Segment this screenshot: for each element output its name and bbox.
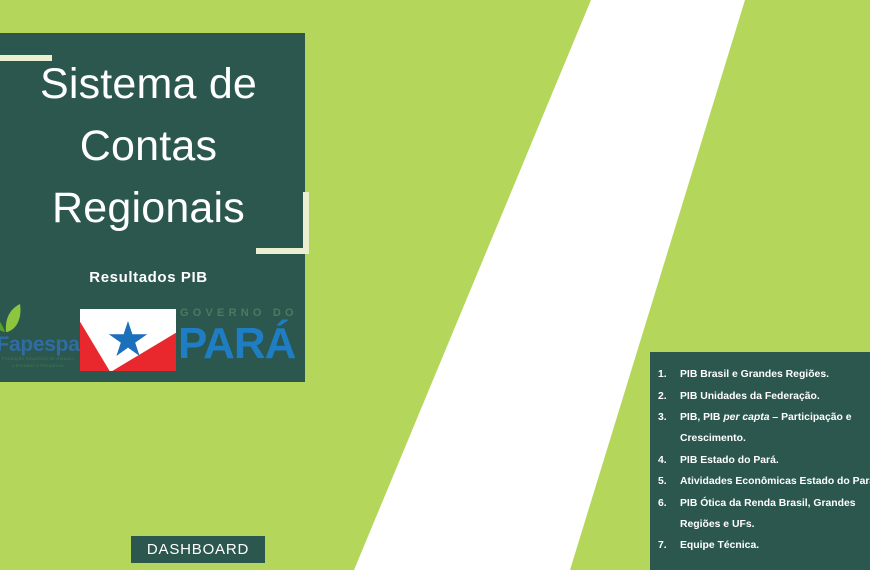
agenda-item[interactable]: 5.Atividades Econômicas Estado do Pará. bbox=[680, 473, 870, 491]
agenda-item-number: 5. bbox=[658, 473, 674, 491]
agenda-item[interactable]: 7.Equipe Técnica. bbox=[680, 537, 870, 555]
agenda-item-number: 4. bbox=[658, 452, 674, 470]
agenda-item-number: 2. bbox=[658, 388, 674, 406]
presentation-slide: Sistema de Contas Regionais Resultados P… bbox=[0, 0, 870, 570]
agenda-item[interactable]: 6.PIB Ótica da Renda Brasil, GrandesRegi… bbox=[680, 495, 870, 534]
leaf-icon bbox=[0, 303, 22, 333]
agenda-item-label: Atividades Econômicas Estado do Pará. bbox=[680, 473, 870, 491]
logo-row: Fapespa Fundação Amazônia de Amparo a Es… bbox=[0, 301, 305, 379]
agenda-item[interactable]: 2.PIB Unidades da Federação. bbox=[680, 388, 870, 406]
agenda-item[interactable]: 4.PIB Estado do Pará. bbox=[680, 452, 870, 470]
fapespa-tagline: Fundação Amazônia de Amparo a Estudos e … bbox=[0, 355, 90, 369]
agenda-item-label: PIB, PIB per capta – Participação e bbox=[680, 409, 870, 427]
agenda-item-number: 7. bbox=[658, 537, 674, 555]
governo-label: GOVERNO DO bbox=[180, 307, 298, 319]
fapespa-logo: Fapespa Fundação Amazônia de Amparo a Es… bbox=[0, 303, 90, 379]
agenda-list: 1.PIB Brasil e Grandes Regiões.2.PIB Uni… bbox=[650, 352, 870, 555]
agenda-item-continuation: Regiões e UFs. bbox=[680, 516, 870, 534]
agenda-panel: 1.PIB Brasil e Grandes Regiões.2.PIB Uni… bbox=[650, 352, 870, 570]
governo-do-para-logo: GOVERNO DO PARÁ bbox=[178, 305, 306, 375]
agenda-item-label: PIB Unidades da Federação. bbox=[680, 388, 870, 406]
page-title-line-2: Contas bbox=[0, 115, 305, 177]
agenda-item-number: 1. bbox=[658, 366, 674, 384]
agenda-item[interactable]: 3.PIB, PIB per capta – Participação eCre… bbox=[680, 409, 870, 448]
dashboard-button[interactable]: DASHBOARD bbox=[131, 536, 265, 563]
para-flag-icon bbox=[80, 309, 176, 371]
agenda-item-number: 6. bbox=[658, 495, 674, 513]
agenda-item-label: Equipe Técnica. bbox=[680, 537, 870, 555]
page-title-line-3: Regionais bbox=[0, 177, 305, 239]
agenda-item-label: PIB Ótica da Renda Brasil, Grandes bbox=[680, 495, 870, 513]
fapespa-tagline-line-1: Fundação Amazônia de Amparo bbox=[2, 356, 74, 361]
corner-accent-bottom-right-horizontal bbox=[256, 248, 309, 254]
fapespa-name: Fapespa bbox=[0, 333, 90, 357]
page-title: Sistema de Contas Regionais bbox=[0, 53, 305, 239]
page-subtitle: Resultados PIB bbox=[0, 269, 305, 286]
page-title-line-1: Sistema de bbox=[0, 53, 305, 115]
agenda-item-number: 3. bbox=[658, 409, 674, 427]
agenda-item-label: PIB Brasil e Grandes Regiões. bbox=[680, 366, 870, 384]
para-label: PARÁ bbox=[178, 319, 295, 369]
agenda-item-continuation: Crescimento. bbox=[680, 430, 870, 448]
title-card: Sistema de Contas Regionais Resultados P… bbox=[0, 33, 305, 382]
agenda-item-label: PIB Estado do Pará. bbox=[680, 452, 870, 470]
fapespa-tagline-line-2: a Estudos e Pesquisas bbox=[12, 363, 64, 368]
agenda-item[interactable]: 1.PIB Brasil e Grandes Regiões. bbox=[680, 366, 870, 384]
